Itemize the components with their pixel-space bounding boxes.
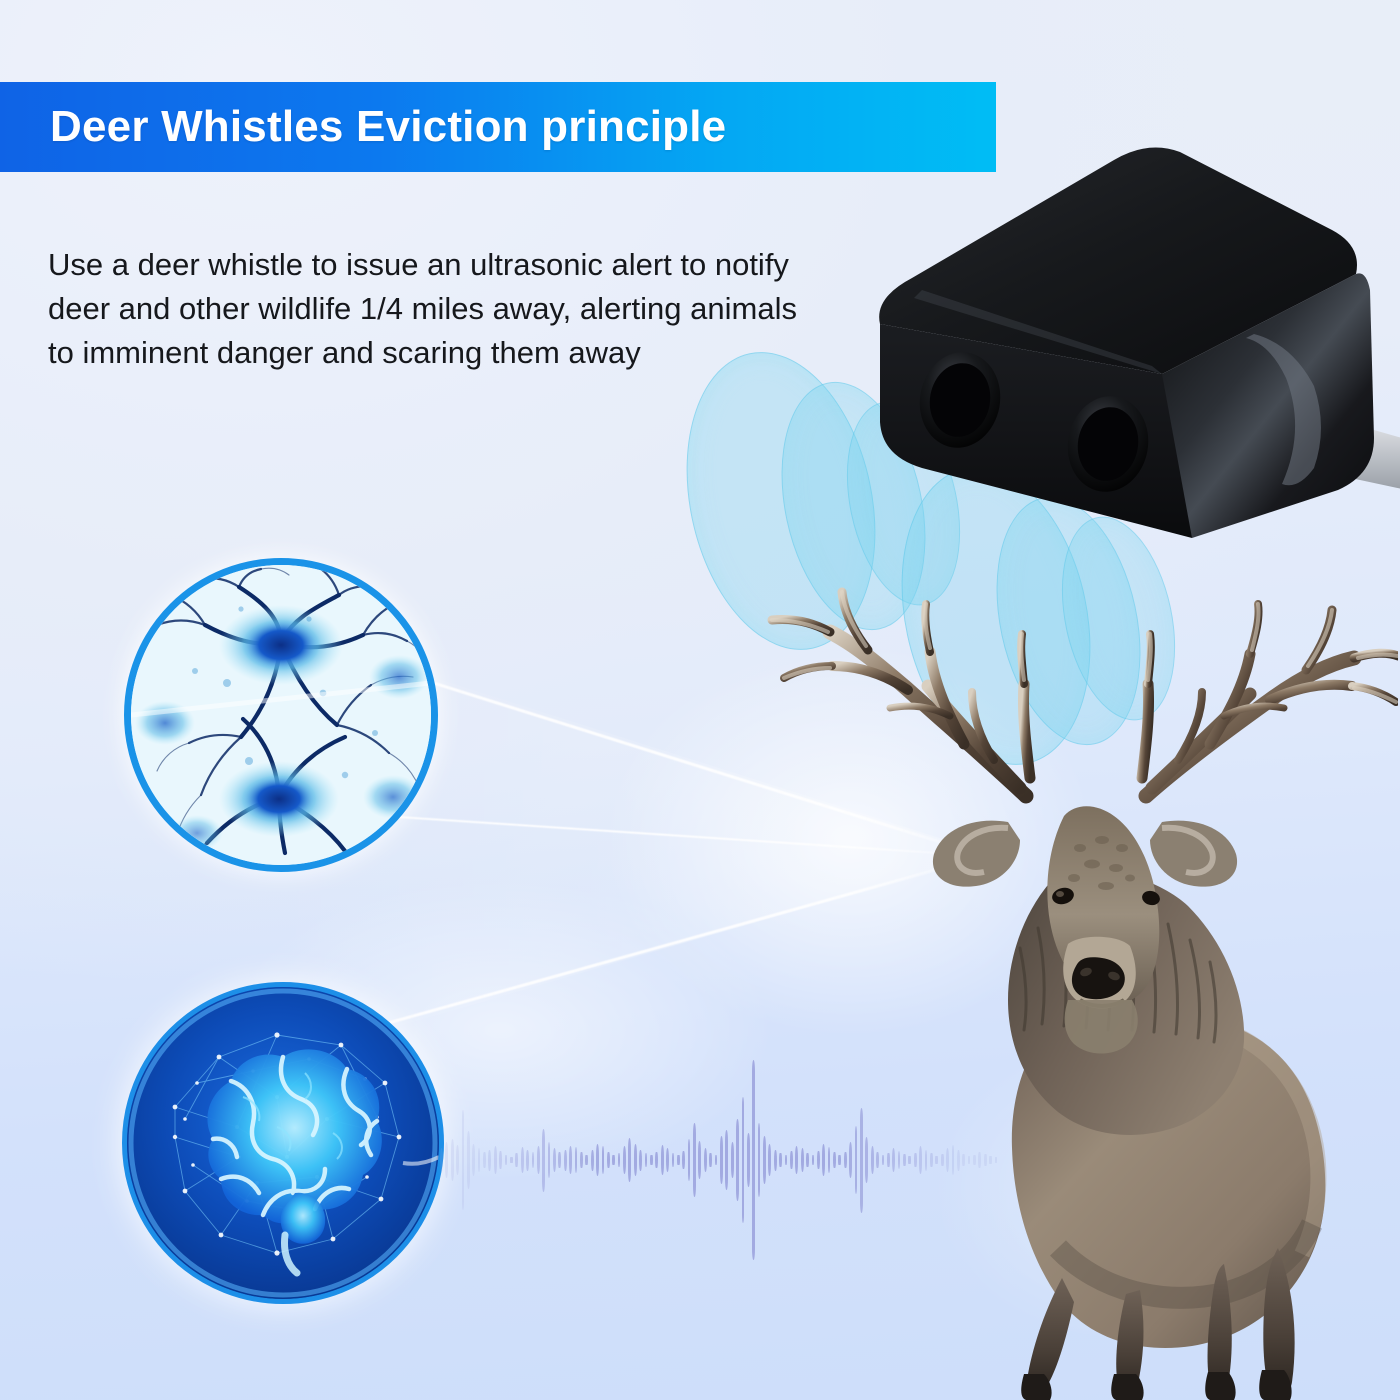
waveform-bar [661, 1145, 664, 1174]
waveform-bar [585, 1155, 588, 1166]
waveform-bar [548, 1142, 551, 1178]
waveform-bar [693, 1123, 696, 1197]
waveform-bar [612, 1155, 615, 1166]
waveform-bar [532, 1152, 535, 1169]
description-paragraph: Use a deer whistle to issue an ultrasoni… [48, 243, 808, 375]
waveform-bar [602, 1146, 605, 1173]
waveform-bar [715, 1155, 718, 1166]
waveform-bar [672, 1153, 675, 1168]
waveform-bar [488, 1150, 491, 1171]
waveform-bar [731, 1142, 734, 1178]
waveform-bar [650, 1155, 653, 1166]
waveform-bar [736, 1119, 739, 1201]
waveform-bar [494, 1146, 497, 1173]
waveform-bar [564, 1150, 567, 1171]
waveform-bar [440, 1148, 443, 1171]
waveform-bar [553, 1148, 556, 1171]
deer-whistle-device [862, 138, 1400, 538]
waveform-bar [645, 1153, 648, 1168]
waveform-bar [747, 1133, 750, 1188]
waveform-bar [677, 1155, 680, 1166]
waveform-bar [451, 1139, 454, 1181]
neuron-cells-image [124, 558, 438, 872]
waveform-bar [655, 1152, 658, 1169]
waveform-bar [472, 1144, 475, 1176]
waveform-bar [634, 1144, 637, 1176]
waveform-bar [666, 1148, 669, 1171]
waveform-bar [688, 1139, 691, 1181]
infographic-canvas: Deer Whistles Eviction principleUse a de… [0, 0, 1400, 1400]
page-title: Deer Whistles Eviction principle [0, 105, 726, 149]
waveform-bar [575, 1147, 578, 1172]
waveform-bar [596, 1144, 599, 1176]
waveform-bar [591, 1150, 594, 1171]
waveform-bar [515, 1153, 518, 1168]
waveform-bar [467, 1131, 470, 1189]
red-deer-stag [758, 548, 1398, 1400]
waveform-bar [607, 1152, 610, 1169]
waveform-bar [725, 1130, 728, 1191]
waveform-bar [704, 1148, 707, 1171]
waveform-bar [526, 1150, 529, 1171]
waveform-bar [682, 1151, 685, 1170]
waveform-bar [720, 1136, 723, 1184]
waveform-bar [639, 1150, 642, 1171]
waveform-bar [580, 1152, 583, 1169]
waveform-bar [505, 1155, 508, 1166]
waveform-bar [478, 1148, 481, 1171]
waveform-bar [623, 1146, 626, 1173]
glowing-brain-network-image [122, 982, 444, 1304]
waveform-bar [445, 1142, 448, 1178]
waveform-bar [499, 1151, 502, 1170]
waveform-bar [462, 1110, 465, 1210]
waveform-bar [569, 1146, 572, 1173]
waveform-bar [709, 1153, 712, 1168]
waveform-bar [742, 1097, 745, 1223]
waveform-bar [542, 1129, 545, 1192]
waveform-bar [483, 1152, 486, 1169]
waveform-bar [618, 1153, 621, 1168]
waveform-bar [456, 1145, 459, 1174]
waveform-bar [537, 1146, 540, 1173]
waveform-bar [628, 1138, 631, 1182]
waveform-bar [521, 1147, 524, 1172]
waveform-bar [752, 1060, 755, 1260]
title-banner: Deer Whistles Eviction principle [0, 82, 996, 172]
waveform-bar [698, 1141, 701, 1179]
waveform-bar [510, 1157, 513, 1163]
waveform-bar [558, 1152, 561, 1169]
